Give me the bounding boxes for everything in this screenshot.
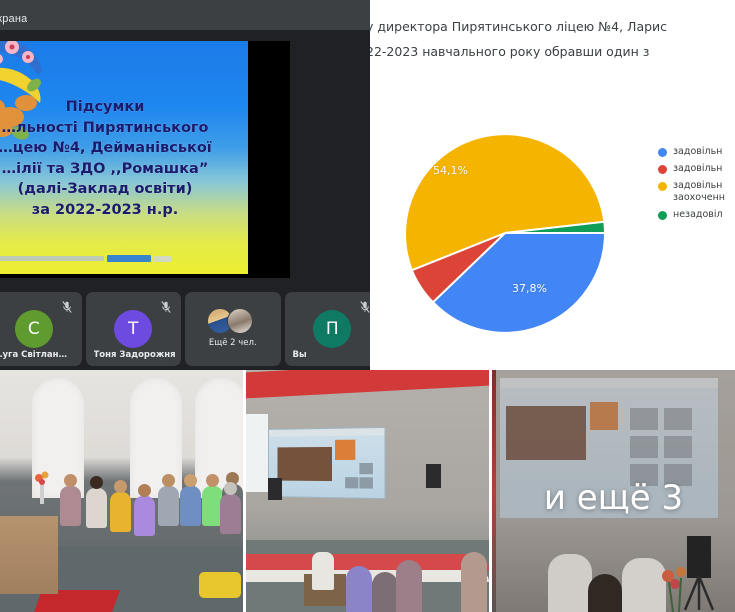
avatar bbox=[227, 308, 253, 334]
photo-projection-with-presenters[interactable]: и ещё 3 bbox=[492, 370, 735, 612]
projected-screen bbox=[268, 427, 385, 499]
legend-label: задовільн bbox=[673, 180, 725, 192]
person-head bbox=[162, 474, 175, 487]
avatar: П bbox=[313, 310, 351, 348]
question-line-1: у директора Пирятинського ліцею №4, Лари… bbox=[370, 19, 667, 34]
legend-color-swatch bbox=[658, 165, 667, 174]
person bbox=[180, 486, 201, 526]
person-head bbox=[184, 474, 197, 487]
more-photos-overlay-label[interactable]: и ещё 3 bbox=[492, 478, 735, 518]
audience-person bbox=[372, 572, 398, 612]
yellow-chair bbox=[199, 572, 241, 598]
presentation-slide: Підсумки …льності Пирятинського …цею №4,… bbox=[0, 41, 248, 274]
person-head bbox=[138, 484, 151, 497]
legend-label: задовільн bbox=[673, 146, 722, 158]
flowers-icon bbox=[34, 470, 50, 504]
stage-edge-red bbox=[246, 554, 489, 570]
mic-off-icon bbox=[61, 300, 73, 314]
meeting-area: …крана bbox=[0, 0, 735, 370]
pie-value-label: 54,1% bbox=[433, 164, 468, 177]
slide-title-line-3: …цею №4, Дейманівської bbox=[0, 138, 248, 159]
projected-video bbox=[277, 447, 332, 481]
participant-name: …уга Світлан… bbox=[0, 350, 76, 360]
meet-panel: …крана bbox=[0, 0, 370, 370]
mini-secondary-button[interactable] bbox=[154, 256, 172, 262]
slide-title-line-2: …льності Пирятинського bbox=[0, 118, 248, 139]
screenshot-root: …крана bbox=[0, 0, 735, 612]
projected-tile bbox=[359, 463, 372, 474]
photo-row: и ещё 3 bbox=[0, 370, 735, 612]
person bbox=[60, 486, 81, 526]
legend-label: незадовіл bbox=[673, 209, 723, 221]
loudspeaker bbox=[268, 478, 282, 500]
participant-name: Вы bbox=[293, 350, 375, 360]
person bbox=[134, 496, 155, 536]
legend-item: задовільн bbox=[658, 146, 735, 158]
pie-chart-svg bbox=[390, 118, 620, 348]
pie-chart: 54,1% 37,8% bbox=[390, 118, 620, 348]
photo-projection-screen-with-speaker[interactable] bbox=[246, 370, 489, 612]
pie-value-label: 37,8% bbox=[512, 282, 547, 295]
legend-color-swatch bbox=[658, 148, 667, 157]
presenter bbox=[312, 552, 334, 590]
person bbox=[110, 492, 131, 532]
question-text: у директора Пирятинського ліцею №4, Лари… bbox=[370, 14, 735, 64]
question-line-2: 22-2023 навчального року обравши один з bbox=[370, 39, 735, 64]
legend-color-swatch bbox=[658, 211, 667, 220]
person bbox=[158, 486, 179, 526]
legend-item: задовільн заохоченн bbox=[658, 180, 735, 204]
more-participants-tile[interactable]: Ещё 2 чел. bbox=[185, 292, 281, 366]
legend-item: незадовіл bbox=[658, 209, 735, 221]
legend-color-swatch bbox=[658, 182, 667, 191]
window bbox=[246, 414, 268, 492]
slide-title-line-4: …ілії та ЗДО ,,Ромашка” bbox=[0, 159, 248, 180]
more-participants-label: Ещё 2 чел. bbox=[185, 338, 281, 348]
legend-label-second-line: заохоченн bbox=[673, 192, 725, 204]
participant-tile-self[interactable]: П Вы bbox=[285, 292, 381, 366]
audience-person bbox=[461, 552, 487, 612]
projected-thumbnail bbox=[335, 440, 355, 460]
mini-toolbar-text bbox=[0, 256, 104, 261]
legend-item: задовільн bbox=[658, 163, 735, 175]
stacked-avatars bbox=[207, 308, 259, 334]
screen-share-bar: …крана bbox=[0, 8, 370, 30]
slide-title-line-1: Підсумки bbox=[0, 97, 248, 118]
participant-tile[interactable]: С …уга Світлан… bbox=[0, 292, 82, 366]
slide-title-line-5: (далі-Заклад освіти) bbox=[0, 179, 248, 200]
slide-title-block: Підсумки …льності Пирятинського …цею №4,… bbox=[0, 97, 248, 220]
slide-title-line-6: за 2022-2023 н.р. bbox=[0, 200, 248, 221]
browser-bar bbox=[269, 428, 384, 437]
audience-person bbox=[346, 566, 372, 612]
person-head bbox=[114, 480, 127, 493]
projected-tile bbox=[345, 477, 358, 488]
screen-share-label: …крана bbox=[0, 13, 27, 25]
person-head bbox=[206, 474, 219, 487]
ceiling-beam bbox=[246, 370, 489, 398]
person-head bbox=[224, 482, 237, 495]
person-head bbox=[64, 474, 77, 487]
shared-screen-viewport[interactable]: Підсумки …льності Пирятинського …цею №4,… bbox=[0, 41, 290, 278]
avatar: С bbox=[15, 310, 53, 348]
meet-top-bar bbox=[0, 0, 370, 8]
legend-label-group: задовільн заохоченн bbox=[673, 180, 725, 204]
participant-name: Тоня Задорожня bbox=[94, 350, 176, 360]
loudspeaker bbox=[426, 464, 441, 488]
person bbox=[86, 488, 107, 528]
legend-label: задовільн bbox=[673, 163, 722, 175]
mini-primary-button[interactable] bbox=[107, 255, 151, 262]
person-head bbox=[90, 476, 103, 489]
avatar: Т bbox=[114, 310, 152, 348]
chart-legend: задовільн задовільн задовільн заохоченн … bbox=[658, 146, 735, 226]
embedded-mini-toolbar bbox=[0, 254, 172, 263]
podium bbox=[0, 516, 58, 594]
participant-strip: С …уга Світлан… Т bbox=[0, 292, 370, 370]
mic-off-icon bbox=[160, 300, 172, 314]
participant-tile[interactable]: Т Тоня Задорожня bbox=[86, 292, 182, 366]
photo-audience-seated-in-hall[interactable] bbox=[0, 370, 243, 612]
audience-person bbox=[396, 560, 422, 612]
projected-tile bbox=[359, 477, 372, 488]
person bbox=[220, 494, 241, 534]
form-results-panel: у директора Пирятинського ліцею №4, Лари… bbox=[370, 0, 735, 370]
